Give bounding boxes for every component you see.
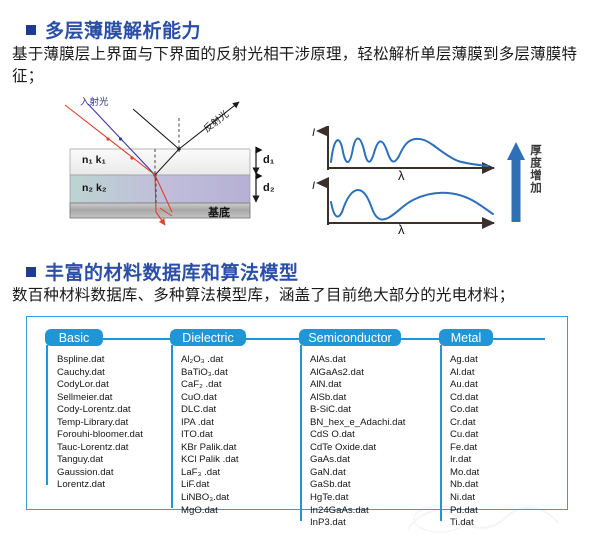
column-header-metal[interactable]: Metal <box>439 329 493 346</box>
column-stem-basic <box>46 345 48 485</box>
column-header-semiconductor[interactable]: Semiconductor <box>299 329 401 346</box>
list-item[interactable]: Ni.dat <box>450 492 479 505</box>
list-item[interactable]: Temp-Library.dat <box>57 417 143 430</box>
layer2-nk-label: n₂ k₂ <box>82 182 107 194</box>
column-stem-metal <box>440 345 442 521</box>
list-item[interactable]: GaN.dat <box>310 467 405 480</box>
layer1-nk-label: n₁ k₁ <box>82 154 106 166</box>
section-title: 丰富的材料数据库和算法模型 <box>45 258 299 285</box>
list-item[interactable]: IPA .dat <box>181 417 239 430</box>
list-item[interactable]: KCl Palik .dat <box>181 454 239 467</box>
list-item[interactable]: AlSb.dat <box>310 392 405 405</box>
thickness1-label: d₁ <box>263 154 274 166</box>
list-item[interactable]: B-SiC.dat <box>310 404 405 417</box>
top-chart-x-axis-label: λ <box>398 168 405 183</box>
list-item[interactable]: Al₂O₃ .dat <box>181 354 239 367</box>
square-bullet-icon <box>26 267 36 277</box>
column-header-basic[interactable]: Basic <box>45 329 103 346</box>
list-item[interactable]: KBr Palik.dat <box>181 442 239 455</box>
list-item[interactable]: BN_hex_e_Adachi.dat <box>310 417 405 430</box>
list-item[interactable]: Tanguy.dat <box>57 454 143 467</box>
list-item[interactable]: DLC.dat <box>181 404 239 417</box>
list-item[interactable]: Bspline.dat <box>57 354 143 367</box>
list-item[interactable]: Au.dat <box>450 379 479 392</box>
list-item[interactable]: Pd.dat <box>450 505 479 518</box>
list-item[interactable]: BaTiO₃.dat <box>181 367 239 380</box>
column-stem-dielectric <box>171 345 173 508</box>
list-item[interactable]: Cody-Lorentz.dat <box>57 404 143 417</box>
list-item[interactable]: CaF₂ .dat <box>181 379 239 392</box>
list-item[interactable]: Cd.dat <box>450 392 479 405</box>
section-body-material-database: 数百种材料数据库、多种算法模型库，涵盖了目前绝大部分的光电材料； <box>12 285 592 307</box>
list-item[interactable]: Ti.dat <box>450 517 479 530</box>
interference-spectra-diagram: I λ I λ <box>298 126 548 232</box>
list-item[interactable]: CdTe Oxide.dat <box>310 442 405 455</box>
top-chart-y-axis-label: I <box>312 127 315 139</box>
list-item[interactable]: Mo.dat <box>450 467 479 480</box>
section-body-film-analysis: 基于薄膜层上界面与下界面的反射光相干涉原理，轻松解析单层薄膜到多层薄膜特征； <box>12 44 592 88</box>
film-stack-diagram: 入射光 反射光 n₁ k₁ n₂ k₂ d₁ d₂ 基底 <box>60 92 300 232</box>
list-item[interactable]: Tauc-Lorentz.dat <box>57 442 143 455</box>
square-bullet-icon <box>26 25 36 35</box>
list-item[interactable]: Ag.dat <box>450 354 479 367</box>
section-heading-film-analysis: 多层薄膜解析能力 <box>26 16 201 43</box>
section-heading-material-database: 丰富的材料数据库和算法模型 <box>26 258 299 285</box>
thickness2-label: d₂ <box>263 182 275 194</box>
list-item[interactable]: Co.dat <box>450 404 479 417</box>
material-database-panel: Basic Bspline.dat Cauchy.dat CodyLor.dat… <box>26 316 568 510</box>
column-list-metal: Ag.dat Al.dat Au.dat Cd.dat Co.dat Cr.da… <box>450 354 479 530</box>
list-item[interactable]: Nb.dat <box>450 479 479 492</box>
list-item[interactable]: LiNBO₃.dat <box>181 492 239 505</box>
list-item[interactable]: Cr.dat <box>450 417 479 430</box>
list-item[interactable]: Fe.dat <box>450 442 479 455</box>
list-item[interactable]: AlAs.dat <box>310 354 405 367</box>
bottom-chart-x-axis-label: λ <box>398 222 405 237</box>
list-item[interactable]: AlN.dat <box>310 379 405 392</box>
list-item[interactable]: CuO.dat <box>181 392 239 405</box>
column-list-dielectric: Al₂O₃ .dat BaTiO₃.dat CaF₂ .dat CuO.dat … <box>181 354 239 517</box>
list-item[interactable]: Gaussion.dat <box>57 467 143 480</box>
list-item[interactable]: MgO.dat <box>181 505 239 518</box>
list-item[interactable]: CodyLor.dat <box>57 379 143 392</box>
substrate-label: 基底 <box>208 204 230 220</box>
list-item[interactable]: ITO.dat <box>181 429 239 442</box>
list-item[interactable]: AlGaAs2.dat <box>310 367 405 380</box>
list-item[interactable]: Cu.dat <box>450 429 479 442</box>
bottom-chart-y-axis-label: I <box>312 180 315 192</box>
list-item[interactable]: Ir.dat <box>450 454 479 467</box>
list-item[interactable]: InP3.dat <box>310 517 405 530</box>
list-item[interactable]: HgTe.dat <box>310 492 405 505</box>
list-item[interactable]: Cauchy.dat <box>57 367 143 380</box>
list-item[interactable]: In24GaAs.dat <box>310 505 405 518</box>
column-header-dielectric[interactable]: Dielectric <box>170 329 246 346</box>
list-item[interactable]: GaAs.dat <box>310 454 405 467</box>
list-item[interactable]: Lorentz.dat <box>57 479 143 492</box>
thickness-increase-label: 厚度增加 <box>528 144 541 194</box>
list-item[interactable]: CdS O.dat <box>310 429 405 442</box>
spectra-svg <box>298 126 548 232</box>
list-item[interactable]: Al.dat <box>450 367 479 380</box>
list-item[interactable]: LiF.dat <box>181 479 239 492</box>
list-item[interactable]: GaSb.dat <box>310 479 405 492</box>
list-item[interactable]: Sellmeier.dat <box>57 392 143 405</box>
column-list-semiconductor: AlAs.dat AlGaAs2.dat AlN.dat AlSb.dat B-… <box>310 354 405 530</box>
list-item[interactable]: Forouhi-bloomer.dat <box>57 429 143 442</box>
column-list-basic: Bspline.dat Cauchy.dat CodyLor.dat Sellm… <box>57 354 143 492</box>
incident-light-label: 入射光 <box>80 94 109 108</box>
list-item[interactable]: LaF₃ .dat <box>181 467 239 480</box>
section-title: 多层薄膜解析能力 <box>45 16 201 43</box>
column-stem-semiconductor <box>300 345 302 521</box>
